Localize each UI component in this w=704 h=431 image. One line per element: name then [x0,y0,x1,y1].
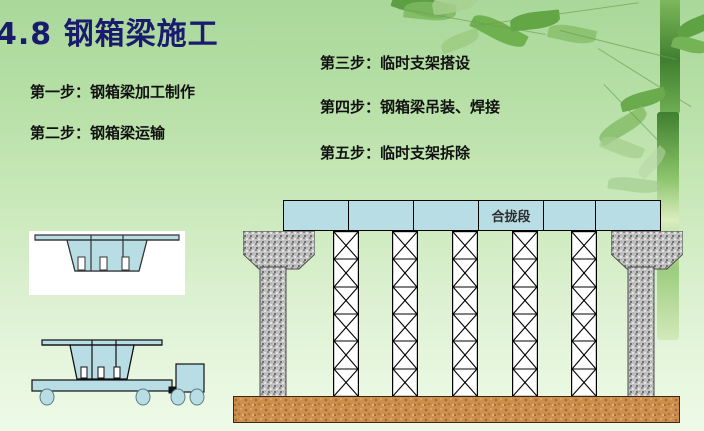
bridge-erection-diagram: 合拢段 [0,0,704,431]
tower-svg [512,231,538,397]
ground-foundation-strip [233,396,680,423]
pier-column [628,267,654,397]
temporary-support-tower [452,231,478,401]
tower-svg [333,231,359,397]
tower-svg [452,231,478,397]
pier-cap [611,231,683,269]
tower-svg [571,231,597,397]
slide-canvas: 4.8 钢箱梁施工 第一步：钢箱梁加工制作 第二步：钢箱梁运输 第三步：临时支架… [0,0,704,431]
pier-left-svg [243,231,315,397]
ground-svg [234,397,679,422]
deck-segment [348,200,414,231]
concrete-pier-right [611,231,683,397]
temporary-support-tower [392,231,418,401]
temporary-support-tower [333,231,359,401]
temporary-support-tower [571,231,597,401]
closure-segment-label: 合拢段 [478,200,544,231]
deck-segment [283,200,349,231]
deck-segment [543,200,596,231]
deck-segment [413,200,479,231]
pier-right-svg [611,231,683,397]
temporary-support-tower [512,231,538,401]
pier-cap [243,231,315,269]
deck-segment [595,200,661,231]
tower-svg [392,231,418,397]
pier-column [260,267,286,397]
concrete-pier-left [243,231,315,397]
soil-fill [234,397,679,422]
